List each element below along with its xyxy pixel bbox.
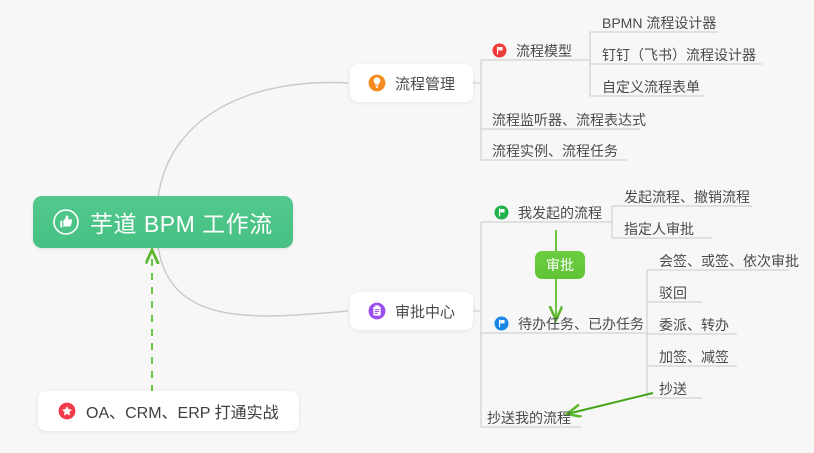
thumbs-up-icon [53, 209, 79, 235]
leaf-node-delegate-transfer[interactable]: 委派、转办 [659, 308, 729, 334]
leaf-node-bpmn-designer[interactable]: BPMN 流程设计器 [602, 6, 716, 32]
star-icon [58, 402, 76, 420]
leaf-label-listener-expression: 流程监听器、流程表达式 [492, 113, 646, 127]
clipboard-icon [368, 302, 386, 320]
lightbulb-icon [368, 74, 386, 92]
leaf-label-multi-sign: 会签、或签、依次审批 [659, 254, 799, 268]
branch-node-approval-center[interactable]: 审批中心 [350, 292, 473, 330]
leaf-label-custom-process-form: 自定义流程表单 [602, 80, 700, 94]
leaf-node-dingtalk-feishu-designer[interactable]: 钉钉（飞书）流程设计器 [602, 38, 756, 64]
flag-green-icon [494, 205, 509, 220]
root-node[interactable]: 芋道 BPM 工作流 [33, 196, 293, 248]
leaf-node-add-remove-sign[interactable]: 加签、减签 [659, 340, 729, 366]
leaf-label-assignee-approval: 指定人审批 [624, 222, 694, 236]
leaf-label-todo-done: 待办任务、已办任务 [518, 317, 644, 331]
leaf-node-cc[interactable]: 抄送 [659, 372, 687, 398]
approval-tag[interactable]: 审批 [535, 251, 585, 279]
footer-node[interactable]: OA、CRM、ERP 打通实战 [38, 391, 299, 431]
leaf-label-bpmn-designer: BPMN 流程设计器 [602, 16, 716, 30]
root-node-label: 芋道 BPM 工作流 [90, 205, 273, 239]
leaf-label-dingtalk-feishu-designer: 钉钉（飞书）流程设计器 [602, 48, 756, 62]
leaf-label-my-initiated: 我发起的流程 [518, 206, 602, 220]
flag-red-icon [492, 43, 507, 58]
wire-root-to-process-management [158, 82, 348, 198]
leaf-label-add-remove-sign: 加签、减签 [659, 350, 729, 364]
annotation-arrow-cc [567, 393, 653, 414]
branch-label-process-management: 流程管理 [395, 73, 455, 94]
leaf-label-delegate-transfer: 委派、转办 [659, 318, 729, 332]
leaf-node-assignee-approval[interactable]: 指定人审批 [624, 212, 694, 238]
leaf-node-reject[interactable]: 驳回 [659, 276, 687, 302]
branch-node-process-management[interactable]: 流程管理 [350, 64, 473, 102]
leaf-label-cc-to-me: 抄送我的流程 [487, 411, 571, 425]
leaf-node-cc-to-me[interactable]: 抄送我的流程 [487, 401, 571, 427]
leaf-label-cc: 抄送 [659, 382, 687, 396]
approval-tag-label: 审批 [546, 255, 574, 275]
leaf-node-process-model[interactable]: 流程模型 [492, 34, 572, 60]
leaf-node-my-initiated[interactable]: 我发起的流程 [494, 196, 602, 222]
leaf-node-instance-task[interactable]: 流程实例、流程任务 [492, 134, 618, 160]
leaf-label-instance-task: 流程实例、流程任务 [492, 144, 618, 158]
wire-root-to-approval-center [158, 246, 348, 316]
mindmap-canvas: 芋道 BPM 工作流 OA、CRM、ERP 打通实战 流程管理 [0, 0, 814, 453]
leaf-node-todo-done[interactable]: 待办任务、已办任务 [494, 307, 644, 333]
footer-node-label: OA、CRM、ERP 打通实战 [86, 399, 279, 423]
branch-label-approval-center: 审批中心 [395, 301, 455, 322]
leaf-node-listener-expression[interactable]: 流程监听器、流程表达式 [492, 103, 646, 129]
leaf-node-multi-sign[interactable]: 会签、或签、依次审批 [659, 244, 799, 270]
flag-blue-icon [494, 316, 509, 331]
leaf-node-custom-process-form[interactable]: 自定义流程表单 [602, 70, 700, 96]
leaf-label-process-model: 流程模型 [516, 44, 572, 58]
leaf-label-start-cancel: 发起流程、撤销流程 [624, 190, 750, 204]
leaf-node-start-cancel[interactable]: 发起流程、撤销流程 [624, 180, 750, 206]
leaf-label-reject: 驳回 [659, 286, 687, 300]
